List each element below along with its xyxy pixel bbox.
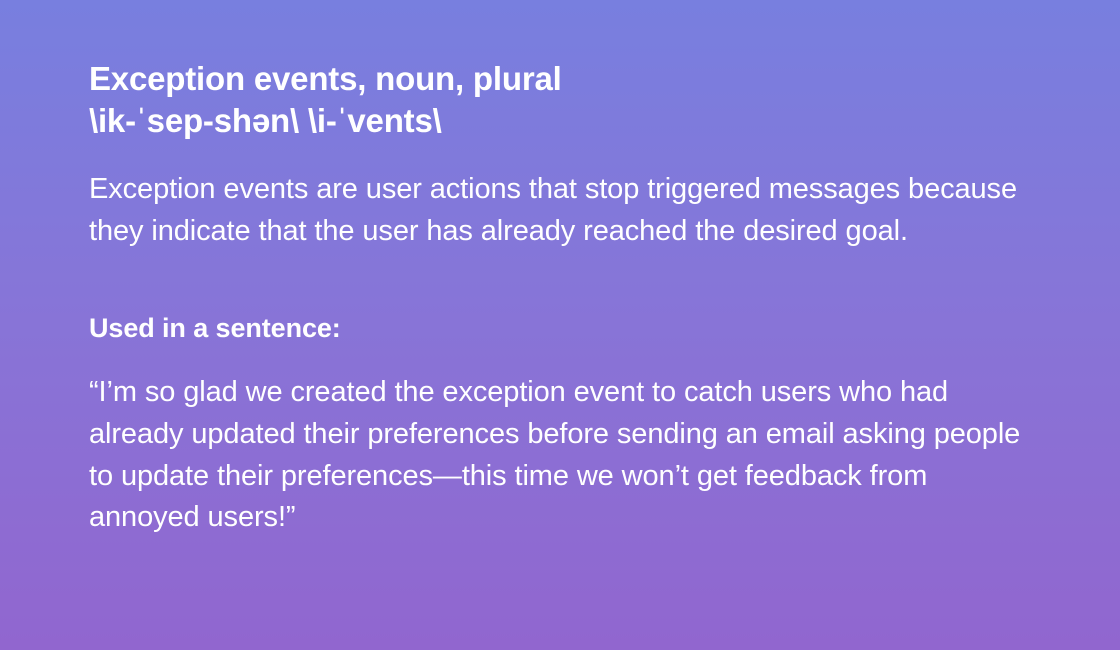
definition-card: Exception events, noun, plural \ik-ˈsep-… <box>0 0 1120 650</box>
term-pronunciation: \ik-ˈsep-shən\ \i-ˈvents\ <box>89 100 1045 142</box>
usage-quote: “I’m so glad we created the exception ev… <box>89 372 1045 539</box>
definition-text: Exception events are user actions that s… <box>89 168 1045 253</box>
term-block: Exception events, noun, plural \ik-ˈsep-… <box>89 58 1045 142</box>
term-headword: Exception events, noun, plural <box>89 58 1045 100</box>
term-heading: Exception events, noun, plural \ik-ˈsep-… <box>89 58 1045 142</box>
usage-heading: Used in a sentence: <box>89 311 1045 346</box>
